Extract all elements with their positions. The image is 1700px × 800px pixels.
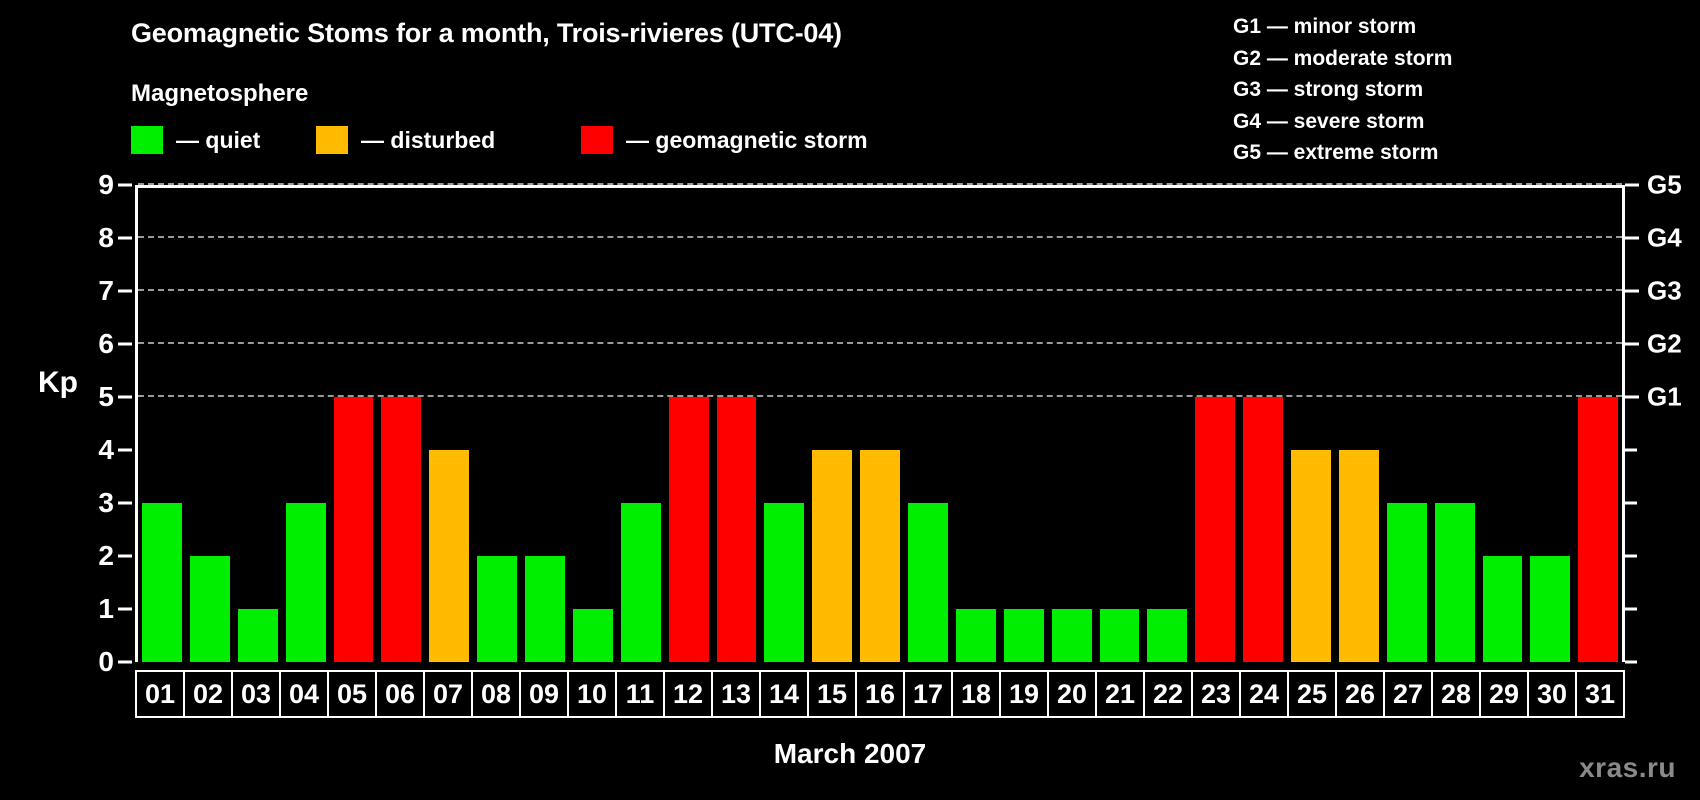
y-tick-label-2: 2 <box>98 540 114 572</box>
g-tick-label-G2: G2 <box>1647 329 1682 360</box>
bar-cell-day-19[interactable] <box>1000 188 1048 662</box>
bar-cell-day-08[interactable] <box>473 188 521 662</box>
day-label-31[interactable]: 31 <box>1577 672 1623 716</box>
day-label-08[interactable]: 08 <box>473 672 521 716</box>
day-label-11[interactable]: 11 <box>617 672 665 716</box>
bar-day-31[interactable] <box>1578 397 1618 662</box>
y-tick-label-9: 9 <box>98 169 114 201</box>
y-tick-mark-1 <box>118 608 132 611</box>
bar-cell-day-17[interactable] <box>904 188 952 662</box>
bar-cell-day-26[interactable] <box>1335 188 1383 662</box>
day-label-22[interactable]: 22 <box>1145 672 1193 716</box>
legend-label-quiet: — quiet <box>176 127 260 154</box>
g-legend-row-5: G5 — extreme storm <box>1233 137 1452 169</box>
g-tick-mark-G4 <box>1625 237 1639 240</box>
day-label-13[interactable]: 13 <box>713 672 761 716</box>
day-label-14[interactable]: 14 <box>761 672 809 716</box>
bar-cell-day-07[interactable] <box>425 188 473 662</box>
g-legend-row-4: G4 — severe storm <box>1233 106 1452 138</box>
bar-day-25[interactable] <box>1291 450 1331 662</box>
day-label-17[interactable]: 17 <box>905 672 953 716</box>
bar-cell-day-02[interactable] <box>186 188 234 662</box>
g-tick-label-G1: G1 <box>1647 382 1682 413</box>
g-tick-mark-G1 <box>1625 396 1639 399</box>
y-tick-label-5: 5 <box>98 381 114 413</box>
bar-day-02[interactable] <box>190 556 230 662</box>
x-axis-day-labels: 0102030405060708091011121314151617181920… <box>135 670 1625 718</box>
y-tick-label-6: 6 <box>98 328 114 360</box>
y-axis-title: Kp <box>38 366 78 400</box>
y-tick-mark-0 <box>118 661 132 664</box>
bar-cell-day-16[interactable] <box>856 188 904 662</box>
bar-cell-day-14[interactable] <box>760 188 808 662</box>
y-tick-mark-2 <box>118 555 132 558</box>
day-label-27[interactable]: 27 <box>1385 672 1433 716</box>
g-legend-row-3: G3 — strong storm <box>1233 74 1452 106</box>
day-label-26[interactable]: 26 <box>1337 672 1385 716</box>
bar-day-10[interactable] <box>573 609 613 662</box>
bar-cell-day-20[interactable] <box>1048 188 1096 662</box>
legend-label-disturbed: — disturbed <box>361 127 495 154</box>
bar-cell-day-15[interactable] <box>808 188 856 662</box>
legend-swatch-quiet <box>131 126 163 154</box>
y-tick-mark-4 <box>118 449 132 452</box>
y-tick-mark-6 <box>118 343 132 346</box>
bar-cell-day-28[interactable] <box>1431 188 1479 662</box>
watermark: xras.ru <box>1579 752 1676 784</box>
bar-day-17[interactable] <box>908 503 948 662</box>
y-tick-label-3: 3 <box>98 487 114 519</box>
bar-cell-day-31[interactable] <box>1574 188 1622 662</box>
bar-cell-day-06[interactable] <box>377 188 425 662</box>
legend-label-geomagnetic-storm: — geomagnetic storm <box>626 127 868 154</box>
g-minor-tick-0 <box>1625 661 1637 664</box>
g-tick-mark-G2 <box>1625 343 1639 346</box>
bar-cell-day-13[interactable] <box>713 188 761 662</box>
day-label-16[interactable]: 16 <box>857 672 905 716</box>
g-tick-label-G4: G4 <box>1647 223 1682 254</box>
bar-cell-day-30[interactable] <box>1526 188 1574 662</box>
bar-cell-day-25[interactable] <box>1287 188 1335 662</box>
bar-day-11[interactable] <box>621 503 661 662</box>
bar-day-09[interactable] <box>525 556 565 662</box>
day-label-23[interactable]: 23 <box>1193 672 1241 716</box>
g-tick-label-G3: G3 <box>1647 276 1682 307</box>
day-label-09[interactable]: 09 <box>521 672 569 716</box>
x-axis-title: March 2007 <box>0 738 1700 770</box>
day-label-02[interactable]: 02 <box>185 672 233 716</box>
y-tick-label-7: 7 <box>98 275 114 307</box>
bar-cell-day-23[interactable] <box>1191 188 1239 662</box>
bar-day-04[interactable] <box>286 503 326 662</box>
g-scale-legend: G1 — minor stormG2 — moderate stormG3 — … <box>1233 11 1452 169</box>
bar-cell-day-03[interactable] <box>234 188 282 662</box>
bar-cell-day-29[interactable] <box>1479 188 1527 662</box>
day-label-12[interactable]: 12 <box>665 672 713 716</box>
gridline-kp-9 <box>138 183 1622 185</box>
bar-day-30[interactable] <box>1530 556 1570 662</box>
day-label-07[interactable]: 07 <box>425 672 473 716</box>
bar-day-13[interactable] <box>717 397 757 662</box>
bar-day-28[interactable] <box>1435 503 1475 662</box>
bar-day-18[interactable] <box>956 609 996 662</box>
y-tick-mark-7 <box>118 290 132 293</box>
bar-day-03[interactable] <box>238 609 278 662</box>
day-label-21[interactable]: 21 <box>1097 672 1145 716</box>
bar-day-24[interactable] <box>1243 397 1283 662</box>
bar-cell-day-04[interactable] <box>282 188 330 662</box>
bar-day-12[interactable] <box>669 397 709 662</box>
y-tick-mark-3 <box>118 502 132 505</box>
bar-day-21[interactable] <box>1100 609 1140 662</box>
day-label-05[interactable]: 05 <box>329 672 377 716</box>
bar-cell-day-21[interactable] <box>1096 188 1144 662</box>
y-axis: 0123456789 <box>60 185 132 662</box>
day-label-28[interactable]: 28 <box>1433 672 1481 716</box>
y-tick-label-8: 8 <box>98 222 114 254</box>
bar-cell-day-12[interactable] <box>665 188 713 662</box>
day-label-06[interactable]: 06 <box>377 672 425 716</box>
legend-group-label: Magnetosphere <box>131 80 308 108</box>
bar-day-06[interactable] <box>381 397 421 662</box>
g-legend-row-1: G1 — minor storm <box>1233 11 1452 43</box>
bar-cell-day-22[interactable] <box>1143 188 1191 662</box>
bar-day-15[interactable] <box>812 450 852 662</box>
day-label-03[interactable]: 03 <box>233 672 281 716</box>
day-label-19[interactable]: 19 <box>1001 672 1049 716</box>
bar-cell-day-11[interactable] <box>617 188 665 662</box>
bar-cell-day-05[interactable] <box>330 188 378 662</box>
secondary-g-axis: G1G2G3G4G5 <box>1625 185 1700 662</box>
y-tick-mark-9 <box>118 184 132 187</box>
chart-canvas: Geomagnetic Stoms for a month, Trois-riv… <box>0 0 1700 800</box>
day-label-15[interactable]: 15 <box>809 672 857 716</box>
legend-item-disturbed: — disturbed <box>316 125 495 155</box>
day-label-29[interactable]: 29 <box>1481 672 1529 716</box>
y-tick-mark-8 <box>118 237 132 240</box>
legend-item-quiet: — quiet <box>131 125 260 155</box>
bar-day-07[interactable] <box>429 450 469 662</box>
bar-day-29[interactable] <box>1483 556 1523 662</box>
bar-day-26[interactable] <box>1339 450 1379 662</box>
g-tick-label-G5: G5 <box>1647 170 1682 201</box>
bar-day-22[interactable] <box>1147 609 1187 662</box>
y-tick-mark-5 <box>118 396 132 399</box>
page-title: Geomagnetic Stoms for a month, Trois-riv… <box>131 18 842 49</box>
day-label-30[interactable]: 30 <box>1529 672 1577 716</box>
bar-cell-day-27[interactable] <box>1383 188 1431 662</box>
y-tick-label-4: 4 <box>98 434 114 466</box>
g-tick-mark-G5 <box>1625 184 1639 187</box>
bar-day-23[interactable] <box>1195 397 1235 662</box>
bar-day-14[interactable] <box>764 503 804 662</box>
bar-cell-day-09[interactable] <box>521 188 569 662</box>
y-tick-label-1: 1 <box>98 593 114 625</box>
day-label-04[interactable]: 04 <box>281 672 329 716</box>
bar-cell-day-10[interactable] <box>569 188 617 662</box>
bar-day-16[interactable] <box>860 450 900 662</box>
bar-day-27[interactable] <box>1387 503 1427 662</box>
g-minor-tick-1 <box>1625 608 1637 611</box>
bar-cell-day-24[interactable] <box>1239 188 1287 662</box>
bar-day-05[interactable] <box>334 397 374 662</box>
day-label-18[interactable]: 18 <box>953 672 1001 716</box>
day-label-24[interactable]: 24 <box>1241 672 1289 716</box>
legend-swatch-geomagnetic-storm <box>581 126 613 154</box>
bar-series <box>138 188 1622 662</box>
g-minor-tick-4 <box>1625 449 1637 452</box>
bar-day-01[interactable] <box>142 503 182 662</box>
bar-day-20[interactable] <box>1052 609 1092 662</box>
y-tick-label-0: 0 <box>98 646 114 678</box>
bar-day-08[interactable] <box>477 556 517 662</box>
day-label-10[interactable]: 10 <box>569 672 617 716</box>
bar-cell-day-18[interactable] <box>952 188 1000 662</box>
g-legend-row-2: G2 — moderate storm <box>1233 43 1452 75</box>
day-label-01[interactable]: 01 <box>137 672 185 716</box>
plot-area <box>135 185 1625 662</box>
legend-item-geomagnetic-storm: — geomagnetic storm <box>581 125 868 155</box>
g-minor-tick-2 <box>1625 555 1637 558</box>
g-tick-mark-G3 <box>1625 290 1639 293</box>
day-label-25[interactable]: 25 <box>1289 672 1337 716</box>
day-label-20[interactable]: 20 <box>1049 672 1097 716</box>
legend-swatch-disturbed <box>316 126 348 154</box>
bar-day-19[interactable] <box>1004 609 1044 662</box>
bar-cell-day-01[interactable] <box>138 188 186 662</box>
g-minor-tick-3 <box>1625 502 1637 505</box>
